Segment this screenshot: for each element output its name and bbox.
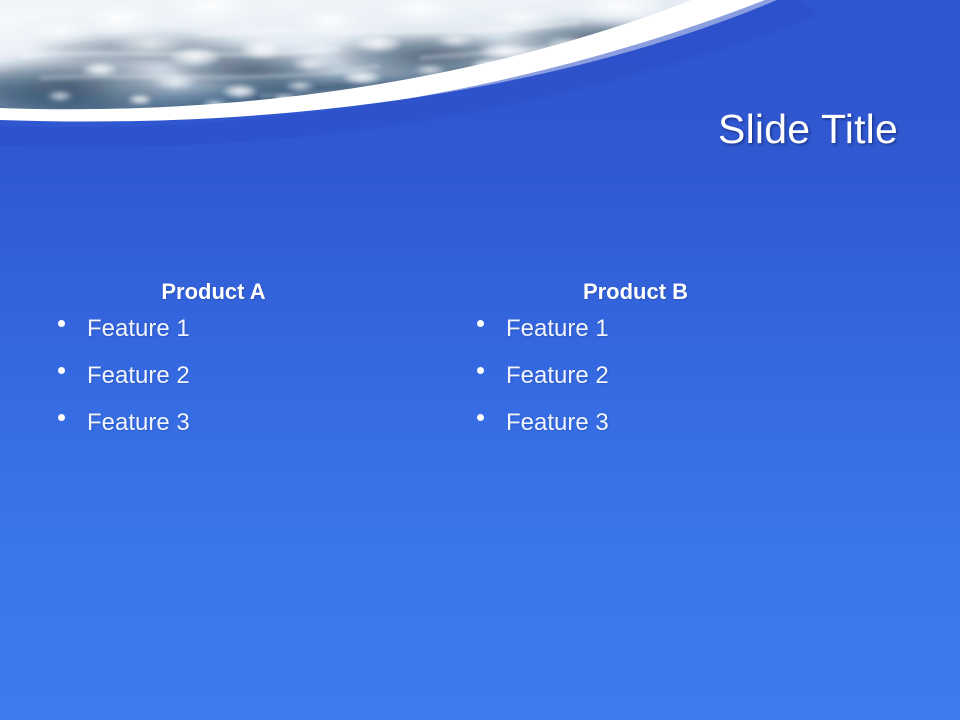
content-column-product-a: Product A Feature 1 Feature 2 Feature 3 — [0, 278, 425, 458]
bullet-dot-icon — [477, 363, 506, 387]
list-item: Feature 1 — [477, 317, 850, 341]
list-item: Feature 2 — [58, 364, 425, 388]
bullet-dot-icon — [58, 363, 87, 387]
bullet-dot-icon — [477, 410, 506, 434]
column-heading-product-a: Product A — [58, 278, 425, 306]
list-item: Feature 2 — [477, 364, 850, 388]
list-item: Feature 3 — [477, 411, 850, 435]
bullet-dot-icon — [58, 316, 87, 340]
column-heading-product-b: Product B — [477, 278, 850, 306]
list-item: Feature 1 — [58, 317, 425, 341]
feature-list-product-b: Feature 1 Feature 2 Feature 3 — [477, 317, 850, 435]
feature-list-product-a: Feature 1 Feature 2 Feature 3 — [58, 317, 425, 435]
list-item-label: Feature 1 — [506, 317, 850, 341]
list-item-label: Feature 2 — [87, 364, 425, 388]
bullet-dot-icon — [477, 316, 506, 340]
presentation-slide: Slide Title Product A Feature 1 Feature … — [0, 0, 960, 720]
list-item-label: Feature 3 — [506, 411, 850, 435]
list-item-label: Feature 2 — [506, 364, 850, 388]
list-item-label: Feature 1 — [87, 317, 425, 341]
page-title: Slide Title — [718, 106, 898, 153]
slide-title-block: Slide Title — [338, 106, 898, 153]
slide-content-area: Product A Feature 1 Feature 2 Feature 3 … — [0, 278, 960, 458]
list-item: Feature 3 — [58, 411, 425, 435]
content-column-product-b: Product B Feature 1 Feature 2 Feature 3 — [425, 278, 850, 458]
bullet-dot-icon — [58, 410, 87, 434]
list-item-label: Feature 3 — [87, 411, 425, 435]
